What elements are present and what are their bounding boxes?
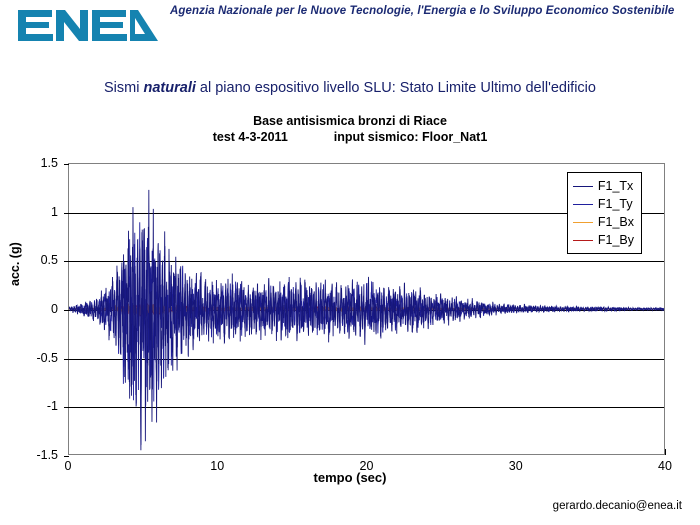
legend-item[interactable]: F1_By: [573, 231, 634, 249]
x-axis-tick-label: 0: [65, 460, 72, 472]
chart-axes: F1_TxF1_TyF1_BxF1_By: [68, 163, 665, 455]
y-axis-tick-label: 1.5: [41, 157, 58, 169]
legend-color-swatch: [573, 240, 593, 241]
x-axis-tick-label: 20: [360, 460, 374, 472]
y-axis-tick-labels: 1.510.50-0.5-1-1.5: [0, 163, 66, 455]
legend-label: F1_Bx: [598, 215, 634, 229]
contact-email: gerardo.decanio@enea.it: [553, 500, 682, 512]
y-axis-tick-mark: [64, 456, 69, 457]
legend-item[interactable]: F1_Ty: [573, 195, 634, 213]
x-axis-title: tempo (sec): [0, 470, 700, 485]
chart-legend[interactable]: F1_TxF1_TyF1_BxF1_By: [567, 172, 642, 254]
x-axis-tick-mark: [665, 449, 666, 455]
legend-color-swatch: [573, 186, 593, 187]
legend-label: F1_By: [598, 233, 634, 247]
legend-item[interactable]: F1_Tx: [573, 177, 634, 195]
chart-plot-area: 1.510.50-0.5-1-1.5 acc. (g) tempo (sec) …: [0, 0, 700, 525]
y-axis-tick-label: 1: [51, 206, 58, 218]
legend-color-swatch: [573, 204, 593, 205]
legend-label: F1_Tx: [598, 179, 633, 193]
legend-label: F1_Ty: [598, 197, 633, 211]
y-axis-tick-label: -1: [47, 400, 58, 412]
y-axis-tick-label: -1.5: [36, 449, 58, 461]
y-axis-title: acc. (g): [8, 242, 22, 286]
y-axis-tick-label: -0.5: [36, 352, 58, 364]
legend-color-swatch: [573, 222, 593, 223]
x-axis-tick-label: 10: [210, 460, 224, 472]
y-axis-tick-label: 0.5: [41, 254, 58, 266]
x-axis-tick-label: 40: [658, 460, 672, 472]
y-axis-tick-label: 0: [51, 303, 58, 315]
legend-item[interactable]: F1_Bx: [573, 213, 634, 231]
x-axis-tick-label: 30: [509, 460, 523, 472]
